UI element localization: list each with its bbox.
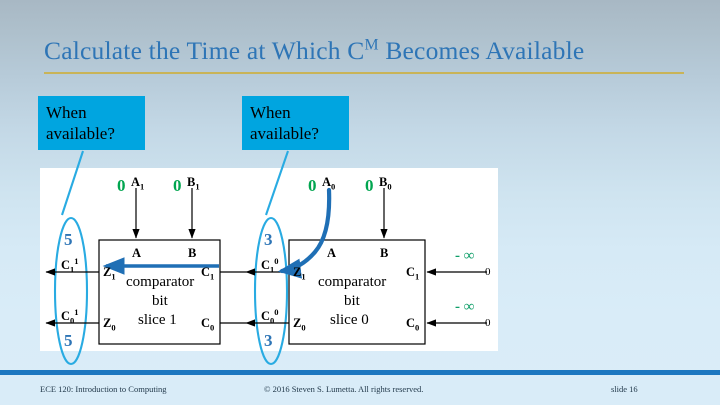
port-label-c0-slice1: C0 [201,316,214,333]
ellipse-middle-signal-c1: C10 [261,256,279,275]
const-value-c0: 0 [485,317,491,329]
input-label-b0: B0 [379,175,392,192]
slide-canvas: Calculate the Time at Which CM Becomes A… [0,0,720,405]
input-value-a1: 0 [117,176,126,196]
port-label-a-slice1: A [132,246,141,261]
block-text-line3-slice0: slice 0 [330,312,369,329]
callout-leader-right [266,151,288,215]
port-z0-sub-slice1: 0 [111,323,115,333]
ellipse-mid-c1-sup: 0 [274,256,278,266]
footer-slide-number: slide 16 [611,384,638,394]
port-label-c0-slice0: C0 [406,316,419,333]
ellipse-left-signal-c0: C01 [61,307,79,326]
port-label-z0-slice0: Z0 [293,316,306,333]
const-time-c0: - ∞ [455,299,474,316]
input-label-a0-base: A [322,175,331,189]
ellipse-left-bottom-value: 5 [64,331,73,351]
callout-leader-left [62,151,83,215]
ellipse-middle-top-value: 3 [264,230,273,250]
port-label-c1-slice0: C1 [406,265,419,282]
ellipse-left-c0-base: C [61,309,70,323]
port-c1-base-slice0: C [406,265,415,279]
port-c0-sub-slice1: 0 [210,323,214,333]
ellipse-mid-c1-base: C [261,258,270,272]
input-label-b1-index: 1 [195,182,199,192]
ellipse-left-top-value: 5 [64,230,73,250]
ellipse-mid-c1-sub: 1 [270,265,274,275]
input-value-b0: 0 [365,176,374,196]
input-value-b1: 0 [173,176,182,196]
port-c0-base-slice1: C [201,316,210,330]
footer-course: ECE 120: Introduction to Computing [40,384,167,394]
port-c0-sub-slice0: 0 [415,323,419,333]
const-value-c1: 0 [485,266,491,278]
ellipse-left-c0-sup: 1 [74,307,78,317]
input-label-b1: B1 [187,175,200,192]
input-label-a1-index: 1 [140,182,144,192]
port-z1-sub-slice1: 1 [111,272,115,282]
port-z1-sub-slice0: 1 [301,272,305,282]
input-value-a0: 0 [308,176,317,196]
port-label-a-slice0: A [327,246,336,261]
ellipse-mid-c0-sup: 0 [274,307,278,317]
port-label-b-slice0: B [380,246,388,261]
port-c1-base-slice1: C [201,265,210,279]
ellipse-left-signal-c1: C11 [61,256,79,275]
input-label-b0-index: 0 [387,182,391,192]
input-label-a0-index: 0 [331,182,335,192]
diagram-artwork [0,0,720,405]
port-label-b-slice1: B [188,246,196,261]
port-label-z1-slice0: Z1 [293,265,306,282]
ellipse-left-c1-base: C [61,258,70,272]
const-time-c1: - ∞ [455,248,474,265]
input-label-a1: A1 [131,175,144,192]
block-text-line2-slice0: bit [344,293,360,310]
block-text-line3-slice1: slice 1 [138,312,177,329]
ellipse-middle-signal-c0: C00 [261,307,279,326]
block-text-line1-slice1: comparator [126,274,194,291]
port-label-z1-slice1: Z1 [103,265,116,282]
ellipse-middle-bottom-value: 3 [264,331,273,351]
ellipse-mid-c0-sub: 0 [270,316,274,326]
ellipse-left-c1-sup: 1 [74,256,78,266]
port-label-z0-slice1: Z0 [103,316,116,333]
block-text-line2-slice1: bit [152,293,168,310]
port-label-c1-slice1: C1 [201,265,214,282]
footer-copyright: © 2016 Steven S. Lumetta. All rights res… [264,384,423,394]
port-c1-sub-slice1: 1 [210,272,214,282]
input-label-a1-base: A [131,175,140,189]
input-label-a0: A0 [322,175,335,192]
port-c1-sub-slice0: 1 [415,272,419,282]
ellipse-mid-c0-base: C [261,309,270,323]
ellipse-left-c1-sub: 1 [70,265,74,275]
port-z0-sub-slice0: 0 [301,323,305,333]
ellipse-left-c0-sub: 0 [70,316,74,326]
block-text-line1-slice0: comparator [318,274,386,291]
port-c0-base-slice0: C [406,316,415,330]
